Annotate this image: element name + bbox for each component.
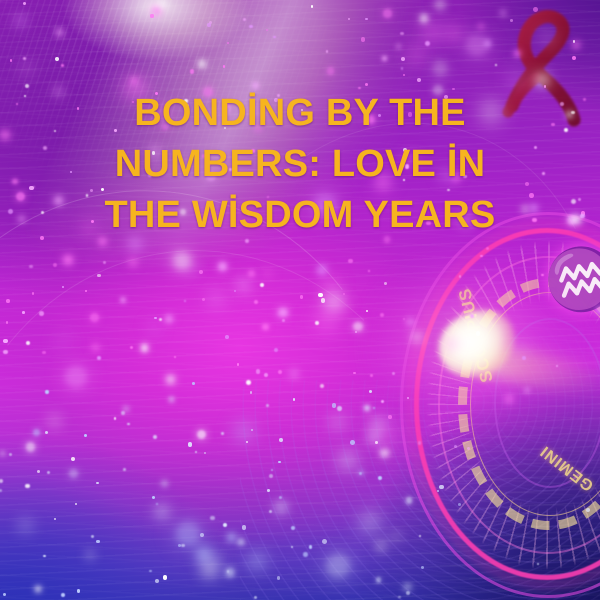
bokeh-particle [156, 503, 159, 506]
bokeh-particle [127, 423, 129, 425]
bokeh-particle [422, 22, 442, 42]
bokeh-particle [6, 321, 9, 324]
bokeh-particle [401, 67, 404, 70]
bokeh-particle [368, 270, 370, 272]
bokeh-particle [29, 265, 33, 269]
bokeh-particle [282, 319, 285, 322]
bokeh-particle [348, 18, 350, 20]
bokeh-particle [435, 0, 445, 10]
bokeh-particle [91, 535, 95, 539]
bokeh-particle [361, 37, 366, 42]
bokeh-particle [234, 290, 236, 292]
bokeh-particle [155, 505, 169, 519]
bokeh-particle [400, 32, 403, 35]
bokeh-particle [208, 291, 224, 307]
bokeh-particle [141, 344, 149, 352]
bokeh-particle [63, 255, 73, 265]
bokeh-particle [97, 356, 101, 360]
bokeh-particle [278, 308, 288, 318]
bokeh-particle [65, 366, 87, 388]
bokeh-particle [154, 317, 157, 320]
bokeh-particle [176, 522, 200, 546]
bokeh-particle [43, 555, 46, 558]
bokeh-particle [123, 406, 129, 412]
bokeh-particle [198, 60, 206, 68]
bokeh-particle [190, 69, 195, 74]
bokeh-particle [202, 564, 215, 577]
bokeh-particle [153, 435, 157, 439]
bokeh-particle [365, 83, 368, 86]
bokeh-particle [23, 2, 27, 6]
bokeh-particle [396, 44, 401, 49]
bokeh-particle [223, 65, 226, 68]
bokeh-particle [409, 48, 424, 63]
bokeh-particle [0, 451, 5, 457]
bokeh-particle [61, 64, 64, 67]
bokeh-particle [384, 282, 388, 286]
bokeh-particle [128, 258, 138, 268]
bokeh-particle [207, 23, 210, 26]
bokeh-particle [188, 442, 192, 446]
bokeh-particle [56, 29, 63, 36]
bokeh-particle [403, 74, 405, 76]
bokeh-particle [237, 363, 240, 366]
bokeh-particle [184, 300, 186, 302]
bokeh-particle [47, 471, 50, 474]
bokeh-particle [33, 429, 40, 436]
bokeh-particle [256, 369, 261, 374]
bokeh-particle [433, 61, 448, 76]
bokeh-particle [165, 315, 173, 323]
bokeh-particle [121, 411, 125, 415]
bokeh-particle [49, 416, 59, 426]
bokeh-particle [254, 300, 258, 304]
bokeh-particle [365, 18, 368, 21]
bokeh-particle [262, 268, 273, 279]
bokeh-particle [0, 489, 2, 492]
bokeh-particle [155, 579, 159, 583]
bokeh-particle [9, 453, 12, 456]
bokeh-particle [26, 442, 35, 451]
bokeh-particle [3, 593, 6, 596]
bokeh-particle [227, 533, 236, 542]
bokeh-particle [15, 15, 26, 26]
bokeh-particle [62, 286, 64, 288]
bokeh-particle [53, 263, 57, 267]
bokeh-particle [39, 311, 44, 316]
bokeh-particle [152, 6, 161, 15]
bokeh-particle [227, 42, 229, 44]
bokeh-particle [123, 468, 126, 471]
bokeh-particle [417, 78, 421, 82]
bokeh-particle [225, 335, 229, 339]
bokeh-particle [204, 452, 206, 454]
bokeh-particle [210, 516, 214, 520]
bokeh-particle [57, 335, 70, 348]
bokeh-particle [195, 451, 197, 453]
bokeh-particle [289, 369, 299, 379]
bokeh-particle [249, 25, 252, 28]
bokeh-particle [327, 67, 335, 75]
bokeh-particle [0, 479, 3, 483]
bokeh-particle [61, 593, 66, 598]
bokeh-particle [20, 520, 31, 531]
bokeh-particle [96, 482, 99, 485]
bokeh-particle [266, 29, 268, 31]
bokeh-particle [209, 21, 213, 25]
bokeh-particle [262, 324, 268, 330]
bokeh-particle [425, 41, 430, 46]
bokeh-particle [323, 276, 339, 292]
bokeh-particle [77, 589, 80, 592]
bokeh-particle [42, 351, 46, 355]
bokeh-particle [120, 297, 126, 303]
bokeh-particle [237, 279, 250, 292]
bokeh-particle [311, 5, 314, 8]
bokeh-particle [32, 292, 35, 295]
bokeh-particle [401, 57, 405, 61]
bokeh-particle [166, 375, 175, 384]
bokeh-particle [149, 570, 152, 573]
bokeh-particle [6, 299, 10, 303]
bokeh-particle [21, 63, 32, 74]
bokeh-particle [55, 57, 59, 61]
bokeh-particle [54, 518, 56, 520]
bokeh-particle [22, 311, 25, 314]
bokeh-particle [96, 540, 99, 543]
bokeh-particle [130, 346, 133, 349]
title-line-2: NUMBERS: LOVE İN [26, 139, 574, 190]
bokeh-particle [248, 270, 255, 277]
bokeh-particle [45, 390, 49, 394]
bokeh-particle [75, 503, 77, 505]
bokeh-particle [84, 434, 87, 437]
bokeh-particle [161, 480, 168, 487]
bokeh-particle [23, 57, 26, 60]
bokeh-particle [91, 343, 100, 352]
bokeh-particle [202, 552, 223, 573]
bokeh-particle [131, 78, 137, 84]
bokeh-particle [3, 339, 7, 343]
bokeh-particle [326, 50, 329, 53]
title-line-1: BONDİNG BY THE [26, 88, 574, 139]
bokeh-particle [37, 470, 40, 473]
bokeh-particle [243, 18, 246, 21]
bokeh-particle [90, 313, 99, 322]
bokeh-particle [196, 547, 211, 562]
bokeh-particle [174, 356, 176, 358]
bokeh-particle [150, 14, 153, 17]
bokeh-particle [158, 0, 168, 8]
bokeh-particle [69, 469, 78, 478]
bokeh-particle [446, 26, 462, 42]
social-graphic-canvas: SCORPIUS GEMINI ♒ BONDİNG BY THE NUMBERS… [0, 0, 600, 600]
bokeh-particle [25, 484, 29, 488]
bokeh-particle [202, 298, 205, 301]
bokeh-particle [192, 382, 195, 385]
bokeh-particle [343, 293, 346, 296]
bokeh-particle [278, 370, 282, 374]
bokeh-particle [97, 274, 100, 277]
bokeh-particle [85, 550, 95, 560]
bokeh-particle [221, 432, 224, 435]
bokeh-particle [85, 290, 87, 292]
bokeh-particle [3, 350, 7, 354]
bokeh-particle [274, 348, 278, 352]
title-line-3: THE WİSDOM YEARS [26, 190, 574, 241]
bokeh-particle [317, 265, 327, 275]
page-title: BONDİNG BY THE NUMBERS: LOVE İN THE WİSD… [0, 88, 600, 241]
bokeh-particle [186, 264, 197, 275]
bokeh-particle [103, 261, 106, 264]
bokeh-particle [348, 259, 353, 264]
bokeh-particle [260, 283, 264, 287]
bokeh-particle [159, 318, 162, 321]
bokeh-particle [197, 430, 206, 439]
bokeh-particle [264, 373, 268, 377]
bokeh-particle [45, 431, 48, 434]
bokeh-particle [223, 523, 227, 527]
bokeh-particle [173, 252, 191, 270]
bokeh-particle [114, 417, 116, 419]
bokeh-particle [181, 544, 185, 548]
bokeh-particle [300, 295, 304, 299]
bokeh-particle [382, 56, 387, 61]
bokeh-particle [178, 544, 182, 548]
bokeh-particle [163, 575, 168, 580]
bokeh-particle [152, 496, 155, 499]
bokeh-particle [318, 293, 323, 298]
bokeh-particle [227, 570, 229, 572]
bokeh-particle [226, 568, 235, 577]
bokeh-particle [200, 533, 204, 537]
bokeh-particle [26, 341, 30, 345]
bokeh-particle [149, 322, 160, 333]
bokeh-particle [10, 59, 13, 62]
bokeh-particle [383, 9, 392, 18]
bokeh-particle [169, 397, 174, 402]
bokeh-particle [199, 270, 203, 274]
bokeh-particle [35, 586, 41, 592]
bokeh-particle [71, 457, 75, 461]
bokeh-particle [273, 36, 275, 38]
bokeh-particle [420, 14, 428, 22]
bokeh-particle [218, 262, 227, 271]
